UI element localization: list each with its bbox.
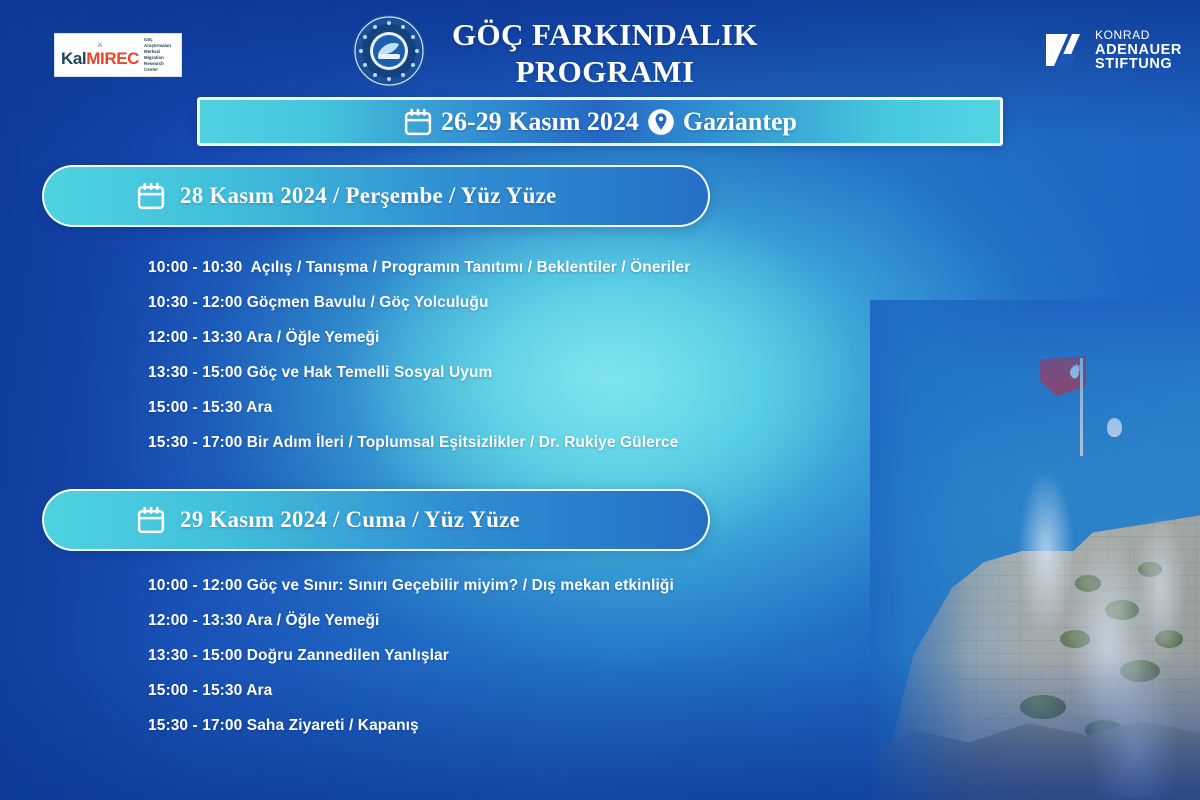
- session-item: 13:30 - 15:00 Göç ve Hak Temelli Sosyal …: [148, 363, 690, 383]
- kalmirec-tagline-line2: Migration Research Center: [144, 55, 175, 73]
- kas-wordmark: KONRAD ADENAUER STIFTUNG: [1095, 28, 1182, 72]
- session-item: 15:30 - 17:00 Saha Ziyareti / Kapanış: [148, 716, 674, 736]
- kas-mark-icon: [1042, 28, 1086, 72]
- session-list-day-2: 10:00 - 12:00 Göç ve Sınır: Sınırı Geçeb…: [148, 576, 674, 751]
- banner-location: Gaziantep: [683, 107, 797, 137]
- calendar-icon: [403, 107, 433, 137]
- kalmirec-name-part1: Kal: [61, 49, 86, 68]
- kalmirec-name: KalMIREC: [61, 50, 139, 68]
- session-item: 10:00 - 12:00 Göç ve Sınır: Sınırı Geçeb…: [148, 576, 674, 596]
- date-location-banner: 26-29 Kasım 2024 Gaziantep: [197, 97, 1003, 146]
- session-item: 13:30 - 15:00 Doğru Zannedilen Yanlışlar: [148, 646, 674, 666]
- calendar-icon: [136, 505, 166, 535]
- session-item: 15:30 - 17:00 Bir Adım İleri / Toplumsal…: [148, 433, 690, 453]
- session-list-day-1: 10:00 - 10:30 Açılış / Tanışma / Program…: [148, 258, 690, 468]
- day-header-2: 29 Kasım 2024 / Cuma / Yüz Yüze: [42, 489, 710, 551]
- kalmirec-tagline-line1: Göç Araştırmaları Merkezi: [144, 37, 175, 55]
- location-pin-icon: [647, 108, 675, 136]
- session-item: 12:00 - 13:30 Ara / Öğle Yemeği: [148, 328, 690, 348]
- day-header-1-label: 28 Kasım 2024 / Perşembe / Yüz Yüze: [180, 183, 556, 209]
- session-item: 10:00 - 10:30 Açılış / Tanışma / Program…: [148, 258, 690, 278]
- day-header-1: 28 Kasım 2024 / Perşembe / Yüz Yüze: [42, 165, 710, 227]
- poster-canvas: ✱ ⚔ KalMIREC Göç Araştırmaları Merkezi M…: [0, 0, 1200, 800]
- konrad-adenauer-stiftung-logo: KONRAD ADENAUER STIFTUNG: [1042, 28, 1182, 72]
- kas-line3: STIFTUNG: [1095, 57, 1182, 72]
- session-item: 12:00 - 13:30 Ara / Öğle Yemeği: [148, 611, 674, 631]
- program-title-line2: PROGRAMI: [430, 53, 780, 90]
- day-header-2-label: 29 Kasım 2024 / Cuma / Yüz Yüze: [180, 507, 520, 533]
- banner-content: 26-29 Kasım 2024 Gaziantep: [403, 107, 797, 137]
- kalmirec-name-part2: MIREC: [86, 49, 139, 68]
- session-item: 15:00 - 15:30 Ara: [148, 398, 690, 418]
- kas-line1: KONRAD: [1095, 28, 1182, 43]
- kalmirec-tagline: Göç Araştırmaları Merkezi Migration Rese…: [144, 37, 175, 73]
- calendar-icon: [136, 181, 166, 211]
- session-item: 10:30 - 12:00 Göçmen Bavulu / Göç Yolcul…: [148, 293, 690, 313]
- kas-line2: ADENAUER: [1095, 43, 1182, 58]
- program-title: GÖÇ FARKINDALIK PROGRAMI: [430, 16, 780, 90]
- program-title-line1: GÖÇ FARKINDALIK: [430, 16, 780, 53]
- session-item: 15:00 - 15:30 Ara: [148, 681, 674, 701]
- kalmirec-wordmark: ⚔ KalMIREC: [61, 42, 139, 68]
- kalmirec-logo: ⚔ KalMIREC Göç Araştırmaları Merkezi Mig…: [54, 33, 182, 77]
- harran-university-seal: [352, 14, 426, 88]
- banner-dates: 26-29 Kasım 2024: [441, 107, 639, 137]
